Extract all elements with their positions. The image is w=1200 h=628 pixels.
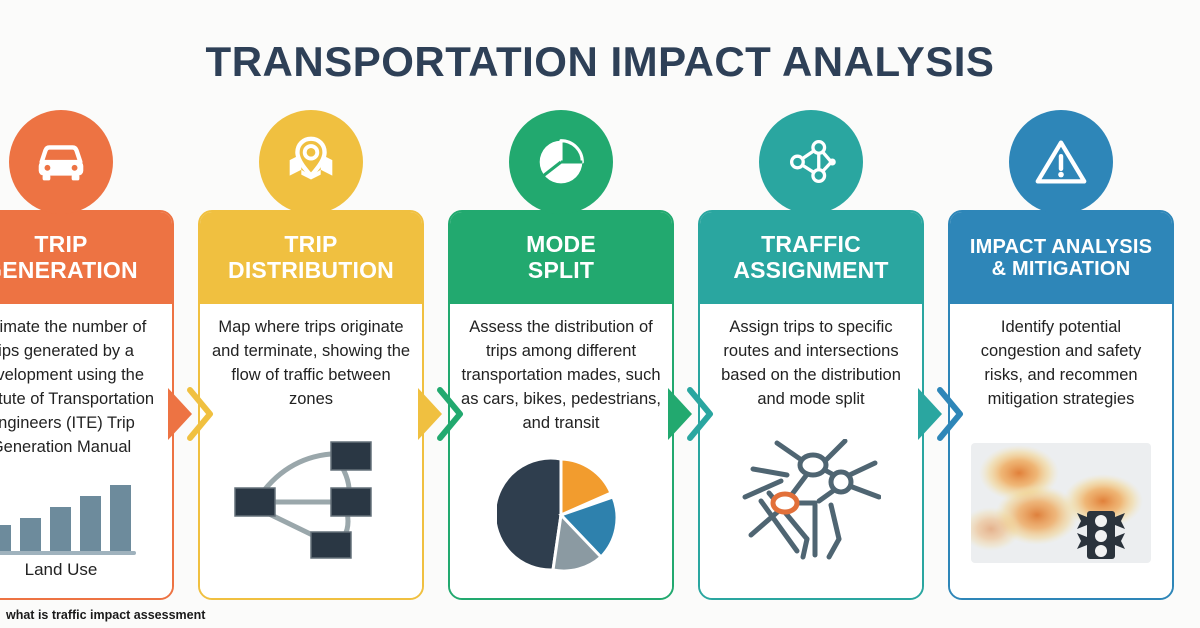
card-body-mode-split: Assess the distribution of trips among d… xyxy=(450,304,672,598)
step-impact-analysis[interactable]: IMPACT ANALYSIS & MITIGATION Identify po… xyxy=(948,110,1174,600)
artwork-zone-network xyxy=(210,412,412,598)
step-traffic-assignment[interactable]: TRAFFIC ASSIGNMENT Assign trips to speci… xyxy=(698,110,924,600)
card-impact-analysis[interactable]: IMPACT ANALYSIS & MITIGATION Identify po… xyxy=(948,210,1174,600)
page-title: TRANSPORTATION IMPACT ANALYSIS xyxy=(0,38,1200,86)
card-description: Estimate the number of trips generated b… xyxy=(0,316,162,460)
card-title-line2: ASSIGNMENT xyxy=(733,257,888,283)
card-description: Identify potential congestion and safety… xyxy=(960,316,1162,412)
card-trip-distribution[interactable]: TRIP DISTRIBUTION Map where trips origin… xyxy=(198,210,424,600)
connector-2 xyxy=(416,382,464,446)
artwork-heat-map xyxy=(960,412,1162,598)
card-title-line2: SPLIT xyxy=(528,257,594,283)
card-header-mode-split: MODE SPLIT xyxy=(450,212,672,304)
card-header-impact-analysis: IMPACT ANALYSIS & MITIGATION xyxy=(950,212,1172,304)
heat-map-icon xyxy=(971,443,1151,563)
bottom-caption: what is traffic impact assessment xyxy=(6,608,205,622)
artwork-pie-chart xyxy=(460,436,662,598)
card-body-trip-distribution: Map where trips originate and terminate,… xyxy=(200,304,422,598)
card-traffic-assignment[interactable]: TRAFFIC ASSIGNMENT Assign trips to speci… xyxy=(698,210,924,600)
pie-chart-icon xyxy=(530,131,592,193)
step-trip-generation[interactable]: TRIP GENERATION Estimate the number of t… xyxy=(0,110,174,600)
mode-split-pie-icon xyxy=(497,451,625,579)
card-title-line1: TRAFFIC xyxy=(761,231,861,257)
card-header-traffic-assignment: TRAFFIC ASSIGNMENT xyxy=(700,212,922,304)
card-title-line1: TRIP xyxy=(284,231,337,257)
card-title-line1: TRIP xyxy=(34,231,87,257)
step-mode-split[interactable]: MODE SPLIT Assess the distribution of tr… xyxy=(448,110,674,600)
infographic-canvas: TRANSPORTATION IMPACT ANALYSIS TRIP xyxy=(0,0,1200,628)
node-network-icon xyxy=(780,131,842,193)
card-mode-split[interactable]: MODE SPLIT Assess the distribution of tr… xyxy=(448,210,674,600)
card-body-trip-generation: Estimate the number of trips generated b… xyxy=(0,304,172,598)
node-network-icon-circle xyxy=(759,110,863,214)
map-pin-icon-circle xyxy=(259,110,363,214)
card-header-trip-distribution: TRIP DISTRIBUTION xyxy=(200,212,422,304)
car-icon-circle xyxy=(9,110,113,214)
card-title-line2: DISTRIBUTION xyxy=(228,257,394,283)
zone-network-icon xyxy=(227,440,395,565)
road-network-icon xyxy=(741,439,881,567)
car-icon xyxy=(30,131,92,193)
pie-chart-icon-circle xyxy=(509,110,613,214)
card-title-line1: IMPACT ANALYSIS xyxy=(970,236,1152,258)
bar-chart-icon xyxy=(0,473,146,559)
artwork-road-network xyxy=(710,412,912,598)
artwork-bar-chart: Land Use xyxy=(0,460,162,598)
bar-chart-label: Land Use xyxy=(0,560,146,580)
connector-3 xyxy=(666,382,714,446)
card-body-impact-analysis: Identify potential congestion and safety… xyxy=(950,304,1172,598)
card-description: Map where trips originate and terminate,… xyxy=(210,316,412,412)
process-steps-strip: TRIP GENERATION Estimate the number of t… xyxy=(0,110,1200,600)
card-trip-generation[interactable]: TRIP GENERATION Estimate the number of t… xyxy=(0,210,174,600)
card-title-line2: GENERATION xyxy=(0,257,138,283)
card-description: Assign trips to specific routes and inte… xyxy=(710,316,912,412)
map-pin-icon xyxy=(280,131,342,193)
warning-triangle-icon xyxy=(1030,131,1092,193)
card-title-line1: MODE xyxy=(526,231,596,257)
card-body-traffic-assignment: Assign trips to specific routes and inte… xyxy=(700,304,922,598)
card-header-trip-generation: TRIP GENERATION xyxy=(0,212,172,304)
step-trip-distribution[interactable]: TRIP DISTRIBUTION Map where trips origin… xyxy=(198,110,424,600)
connector-4 xyxy=(916,382,964,446)
connector-1 xyxy=(166,382,214,446)
warning-triangle-icon-circle xyxy=(1009,110,1113,214)
card-description: Assess the distribution of trips among d… xyxy=(460,316,662,436)
card-title-line2: & MITIGATION xyxy=(992,258,1131,280)
